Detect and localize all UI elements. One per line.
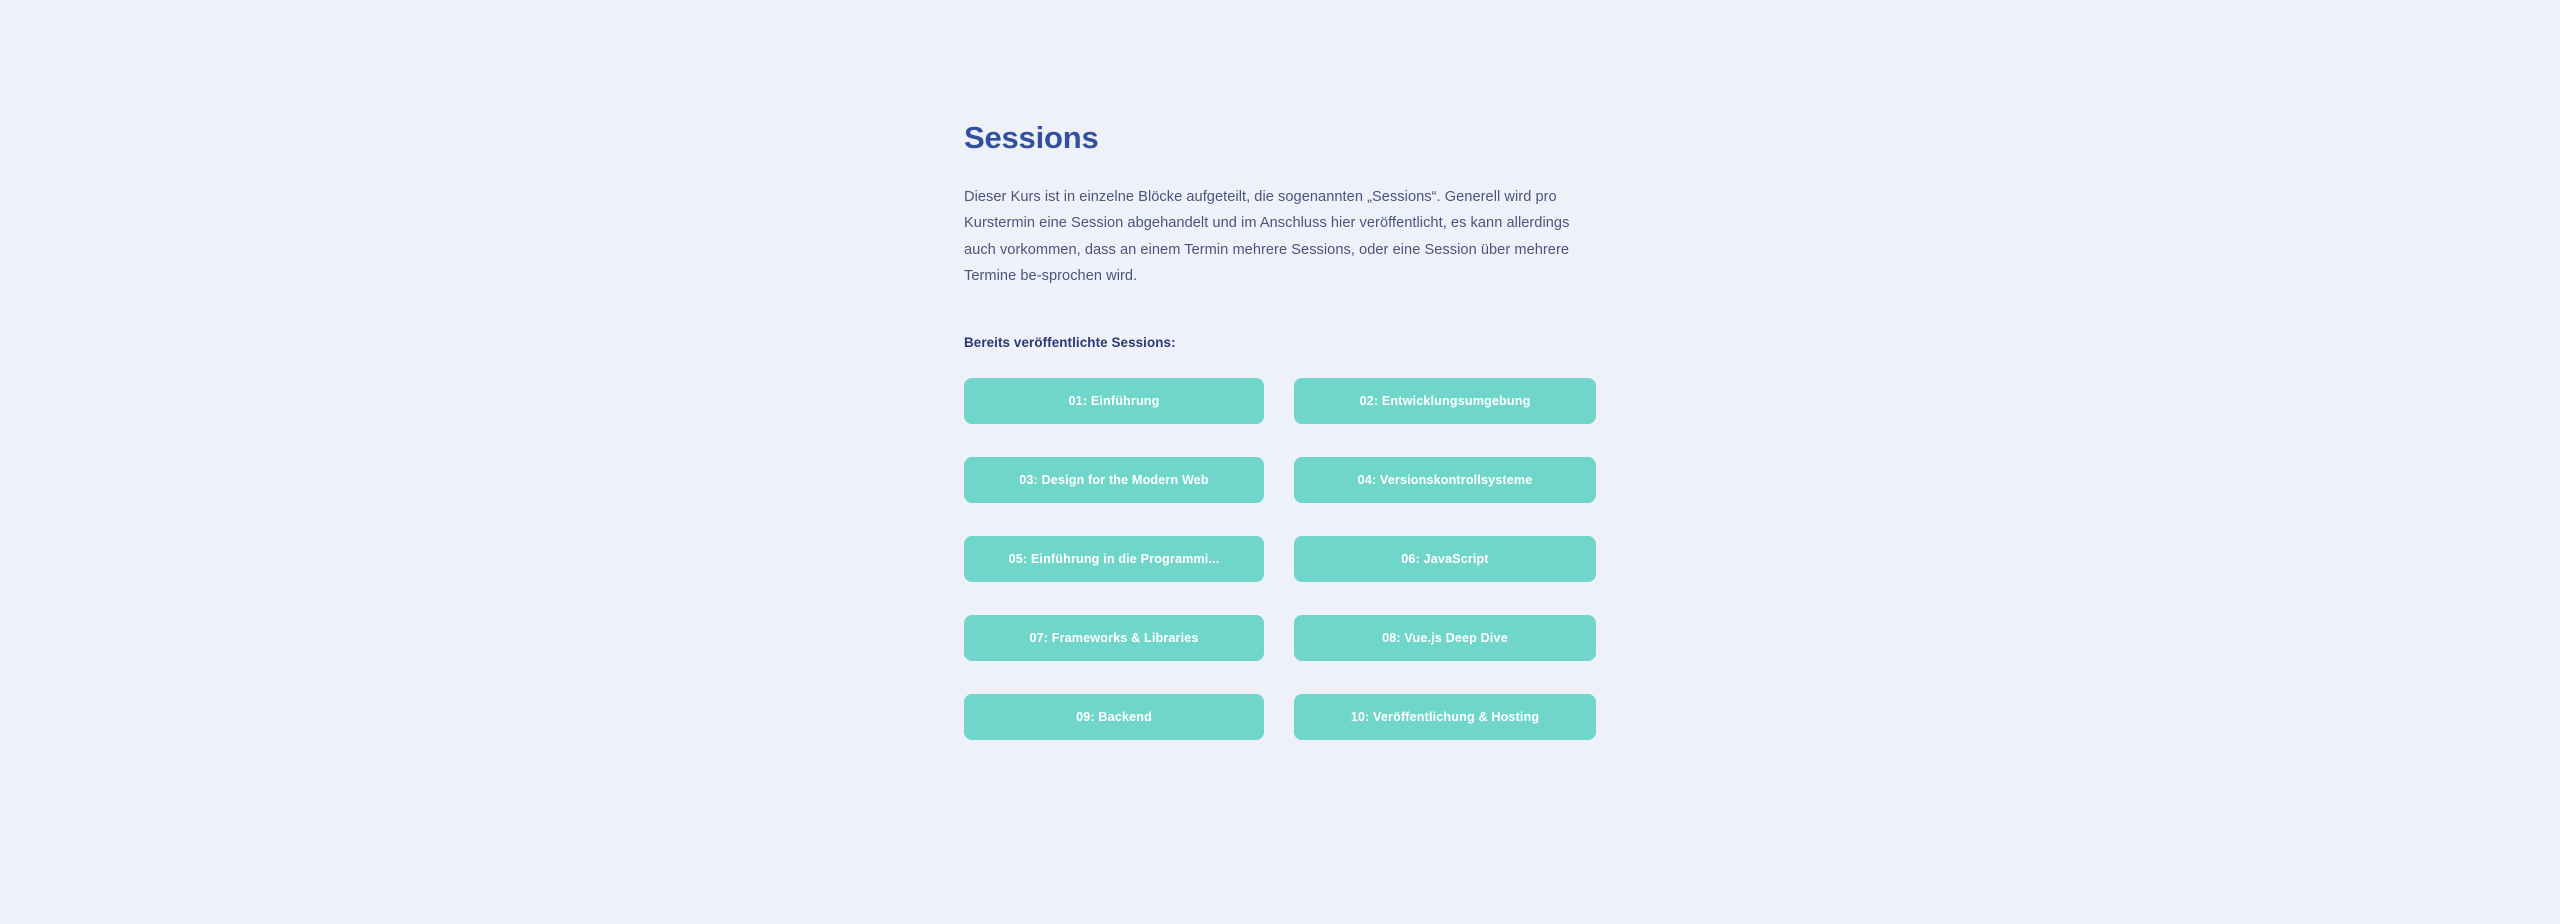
session-button-label: 03: Design for the Modern Web <box>1019 473 1209 487</box>
session-button-label: 08: Vue.js Deep Dive <box>1382 631 1508 645</box>
intro-paragraph: Dieser Kurs ist in einzelne Blöcke aufge… <box>964 184 1596 290</box>
session-button-grid: 01: Einführung 02: Entwicklungsumgebung … <box>964 378 1596 740</box>
session-button-07[interactable]: 07: Frameworks & Libraries <box>964 615 1264 661</box>
session-button-10[interactable]: 10: Veröffentlichung & Hosting <box>1294 694 1596 740</box>
session-button-03[interactable]: 03: Design for the Modern Web <box>964 457 1264 503</box>
session-button-label: 05: Einführung in die Programmi... <box>1009 552 1220 566</box>
session-button-label: 07: Frameworks & Libraries <box>1029 631 1198 645</box>
session-button-label: 04: Versionskontrollsysteme <box>1358 473 1533 487</box>
published-sessions-label: Bereits veröffentlichte Sessions: <box>964 334 1600 351</box>
page-root: Sessions Dieser Kurs ist in einzelne Blö… <box>0 0 2560 924</box>
session-button-09[interactable]: 09: Backend <box>964 694 1264 740</box>
session-button-02[interactable]: 02: Entwicklungsumgebung <box>1294 378 1596 424</box>
session-button-08[interactable]: 08: Vue.js Deep Dive <box>1294 615 1596 661</box>
session-button-04[interactable]: 04: Versionskontrollsysteme <box>1294 457 1596 503</box>
session-button-06[interactable]: 06: JavaScript <box>1294 536 1596 582</box>
session-button-label: 02: Entwicklungsumgebung <box>1360 394 1531 408</box>
session-button-05[interactable]: 05: Einführung in die Programmi... <box>964 536 1264 582</box>
session-button-01[interactable]: 01: Einführung <box>964 378 1264 424</box>
session-button-label: 06: JavaScript <box>1401 552 1489 566</box>
session-button-label: 09: Backend <box>1076 710 1152 724</box>
content-column: Sessions Dieser Kurs ist in einzelne Blö… <box>964 0 1600 740</box>
session-button-label: 01: Einführung <box>1069 394 1160 408</box>
session-button-label: 10: Veröffentlichung & Hosting <box>1351 710 1540 724</box>
page-title: Sessions <box>964 120 1600 156</box>
